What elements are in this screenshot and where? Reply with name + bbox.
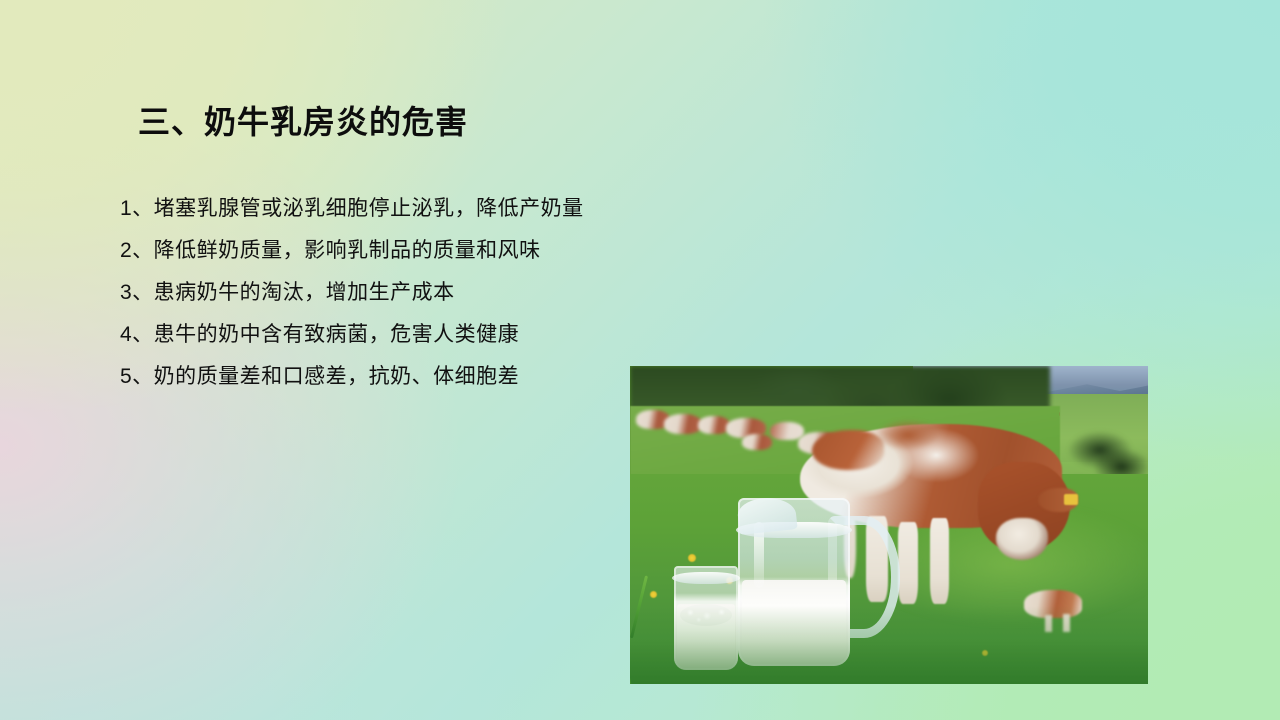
slide-title: 三、奶牛乳房炎的危害	[138, 97, 468, 143]
presentation-slide: 三、奶牛乳房炎的危害 1、堵塞乳腺管或泌乳细胞停止泌乳，降低产奶量 2、降低鲜奶…	[0, 0, 1280, 720]
list-item: 4、患牛的奶中含有致病菌，危害人类健康	[120, 314, 720, 356]
dandelion-flower	[688, 554, 696, 562]
cow-ear-tag	[1064, 494, 1078, 505]
distant-cow	[742, 434, 772, 450]
grass-blade	[630, 639, 634, 684]
list-item: 3、患病奶牛的淘汰，增加生产成本	[120, 272, 720, 314]
grass-blade	[630, 575, 648, 638]
list-item: 1、堵塞乳腺管或泌乳细胞停止泌乳，降低产奶量	[120, 188, 720, 230]
cow-muzzle	[996, 518, 1048, 560]
distant-cow	[664, 414, 702, 434]
pasture-cow-milk-photo	[630, 366, 1148, 684]
cow-patch	[878, 420, 938, 450]
cow-patch	[812, 430, 884, 470]
list-item: 2、降低鲜奶质量，影响乳制品的质量和风味	[120, 230, 720, 272]
grass-blades	[630, 574, 1148, 684]
